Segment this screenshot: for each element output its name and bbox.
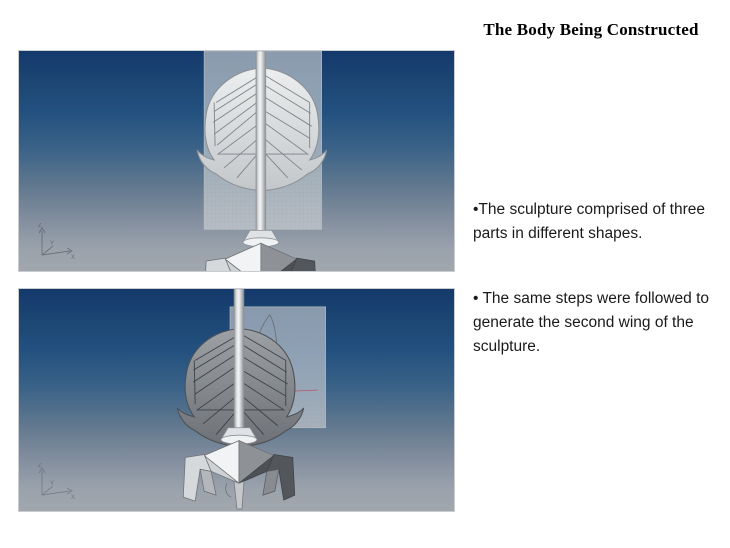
svg-text:Z: Z [38, 463, 42, 469]
axis-triad-icon: Z Y X [33, 221, 79, 261]
bullet-item-1: •The sculpture comprised of three parts … [473, 198, 718, 246]
base-part [204, 243, 316, 271]
bullet-item-2: • The same steps were followed to genera… [473, 287, 718, 359]
axis-triad-icon: Z Y X [33, 461, 79, 501]
cad-render-top [19, 51, 454, 271]
svg-text:X: X [71, 255, 75, 261]
base-part [183, 441, 294, 509]
cad-render-bottom [19, 289, 454, 511]
cad-viewport-bottom[interactable]: Z Y X [18, 288, 455, 512]
pole-part [256, 51, 266, 237]
cad-viewport-top[interactable]: Z Y X [18, 50, 455, 272]
page-title: The Body Being Constructed [466, 20, 716, 40]
svg-text:Z: Z [38, 223, 42, 229]
svg-text:Y: Y [50, 481, 54, 487]
svg-text:Y: Y [50, 241, 54, 247]
svg-text:X: X [71, 495, 75, 501]
